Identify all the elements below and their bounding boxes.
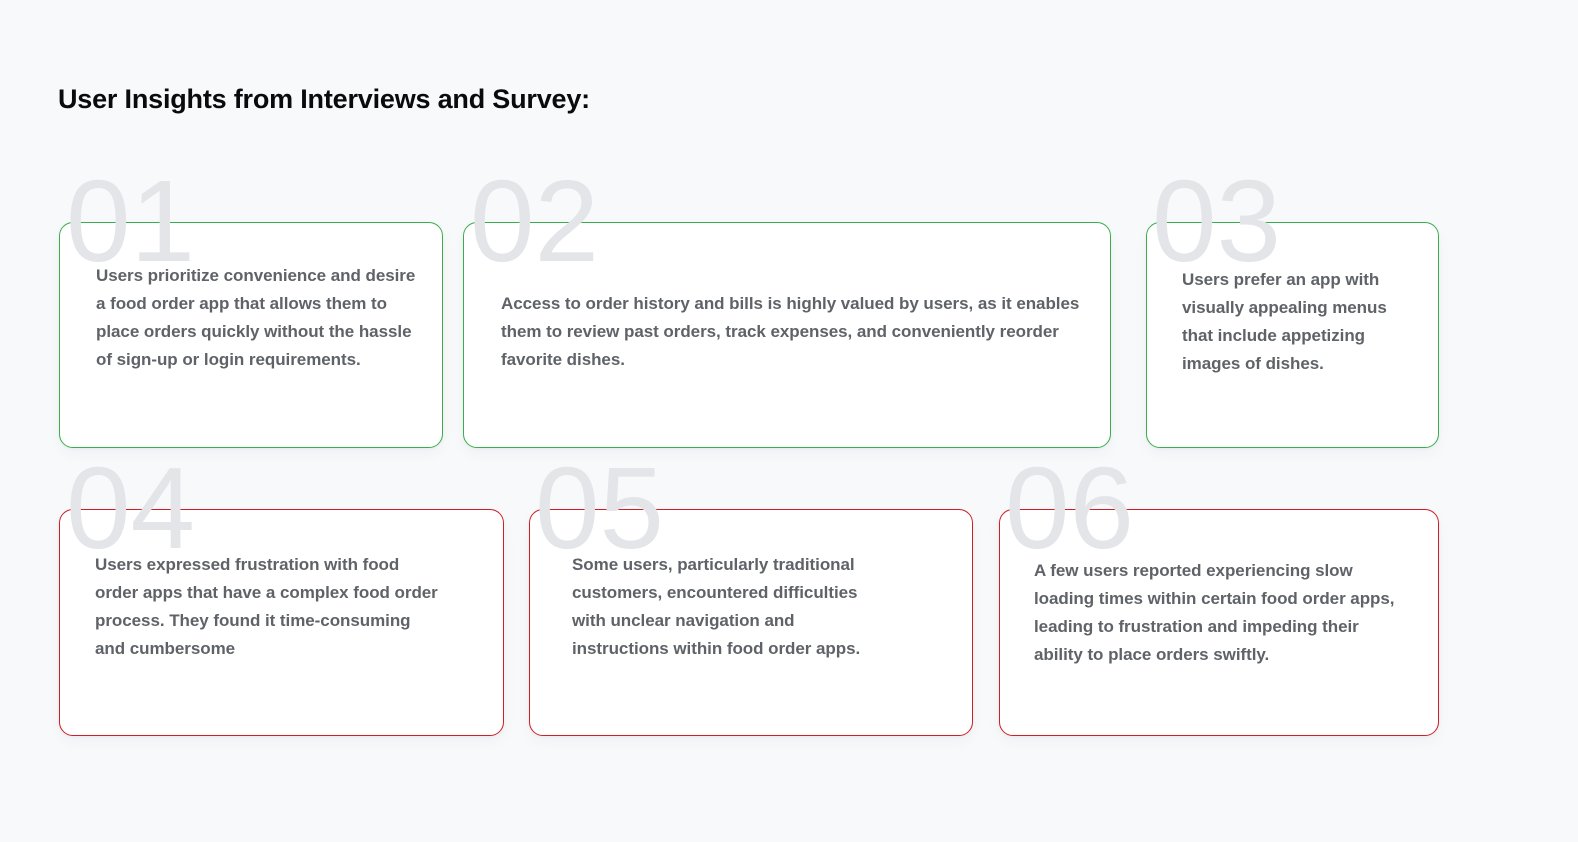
insights-board: User Insights from Interviews and Survey… (0, 0, 1578, 842)
insight-text-04: Users expressed frustration with food or… (95, 551, 445, 663)
insight-text-03: Users prefer an app with visually appeal… (1182, 266, 1412, 378)
insight-text-02: Access to order history and bills is hig… (501, 290, 1081, 374)
insight-text-01: Users prioritize convenience and desire … (96, 262, 416, 374)
insight-text-05: Some users, particularly traditional cus… (572, 551, 872, 663)
insight-text-06: A few users reported experiencing slow l… (1034, 557, 1406, 669)
page-title: User Insights from Interviews and Survey… (58, 84, 590, 115)
